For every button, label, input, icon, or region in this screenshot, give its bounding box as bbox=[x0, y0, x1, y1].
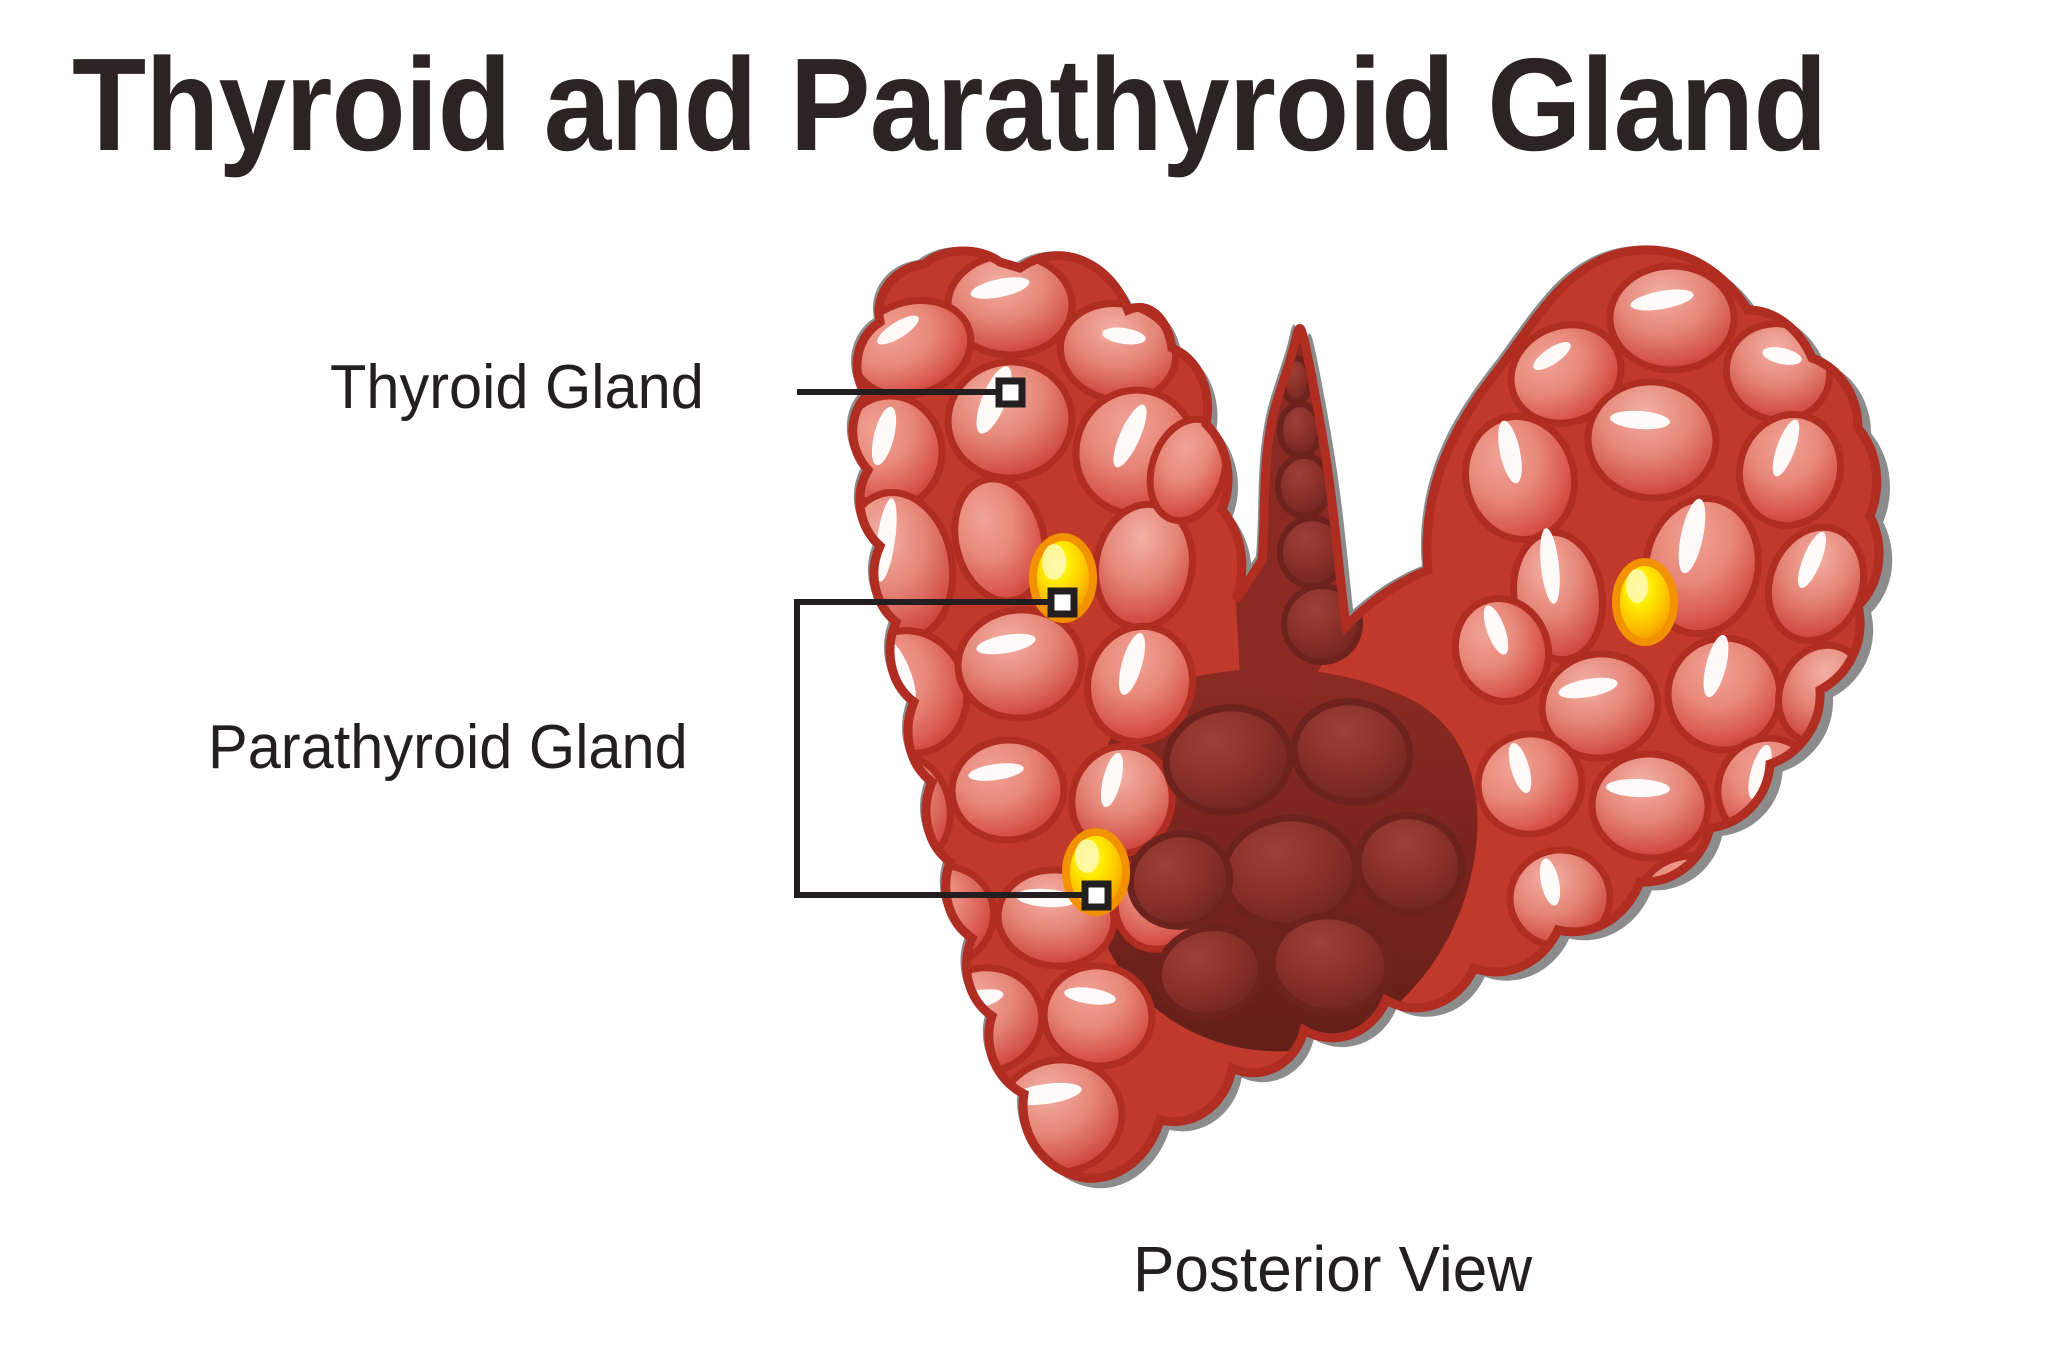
figure-canvas: Thyroid and Parathyroid Gland Thyroid Gl… bbox=[0, 0, 2048, 1358]
label-thyroid-gland: Thyroid Gland bbox=[330, 352, 704, 423]
thyroid-gland-illustration bbox=[0, 0, 2048, 1358]
page-title: Thyroid and Parathyroid Gland bbox=[72, 38, 1838, 173]
label-parathyroid-gland: Parathyroid Gland bbox=[208, 712, 688, 783]
parathyroid-left-superior bbox=[1033, 537, 1093, 619]
parathyroid-left-inferior bbox=[1066, 832, 1126, 912]
caption-posterior-view: Posterior View bbox=[1133, 1232, 1532, 1306]
parathyroid-right-superior bbox=[1616, 562, 1674, 642]
parathyroid-right-inferior bbox=[1602, 930, 1658, 1002]
